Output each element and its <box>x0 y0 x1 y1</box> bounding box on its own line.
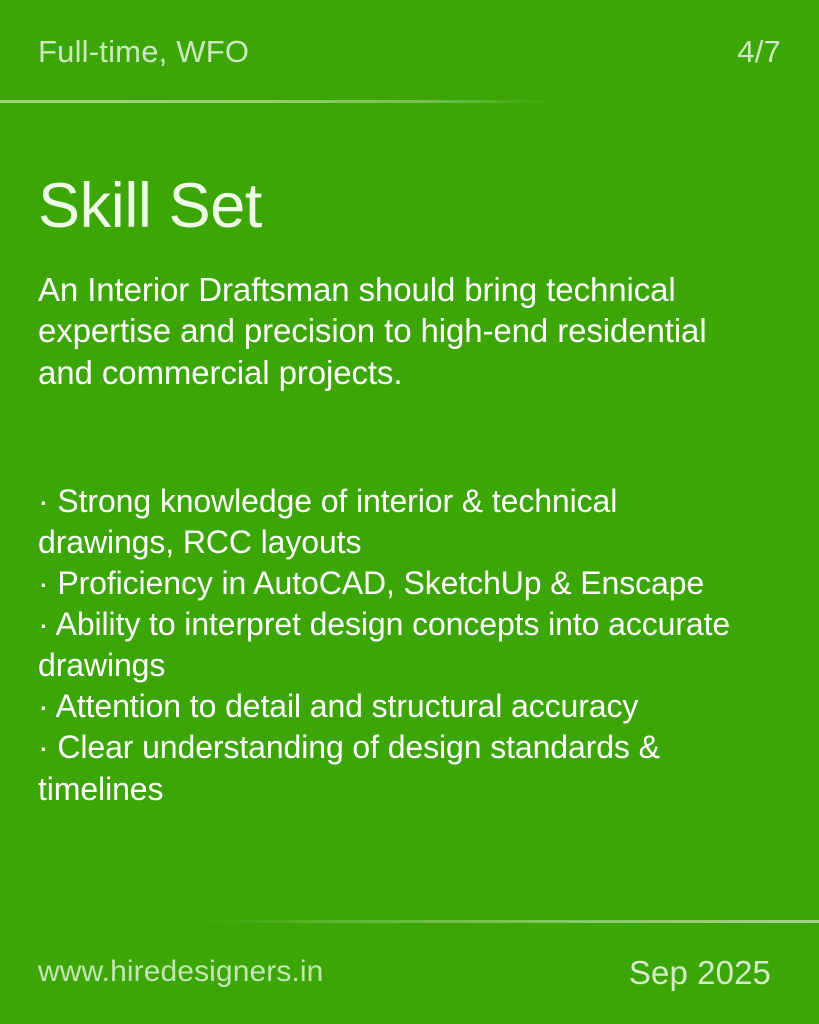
list-item: · Proficiency in AutoCAD, SketchUp & Ens… <box>38 563 754 604</box>
list-item: · Strong knowledge of interior & technic… <box>38 481 754 563</box>
employment-type-label: Full-time, WFO <box>38 36 249 67</box>
slide-root: Full-time, WFO 4/7 Skill Set An Interior… <box>0 0 819 1024</box>
intro-paragraph: An Interior Draftsman should bring techn… <box>38 238 750 393</box>
slide-header: Full-time, WFO 4/7 <box>0 0 819 103</box>
website-url[interactable]: www.hiredesigners.in <box>38 957 323 987</box>
list-item: · Attention to detail and structural acc… <box>38 686 754 727</box>
list-item: · Clear understanding of design standard… <box>38 727 754 809</box>
slide-date: Sep 2025 <box>629 956 771 989</box>
list-item: · Ability to interpret design concepts i… <box>38 604 754 686</box>
slide-counter: 4/7 <box>737 36 781 67</box>
slide-content: Skill Set An Interior Draftsman should b… <box>0 103 819 920</box>
skill-list: · Strong knowledge of interior & technic… <box>38 393 754 810</box>
slide-footer: www.hiredesigners.in Sep 2025 <box>0 920 819 1024</box>
page-title: Skill Set <box>38 103 781 238</box>
footer-divider <box>0 920 819 923</box>
